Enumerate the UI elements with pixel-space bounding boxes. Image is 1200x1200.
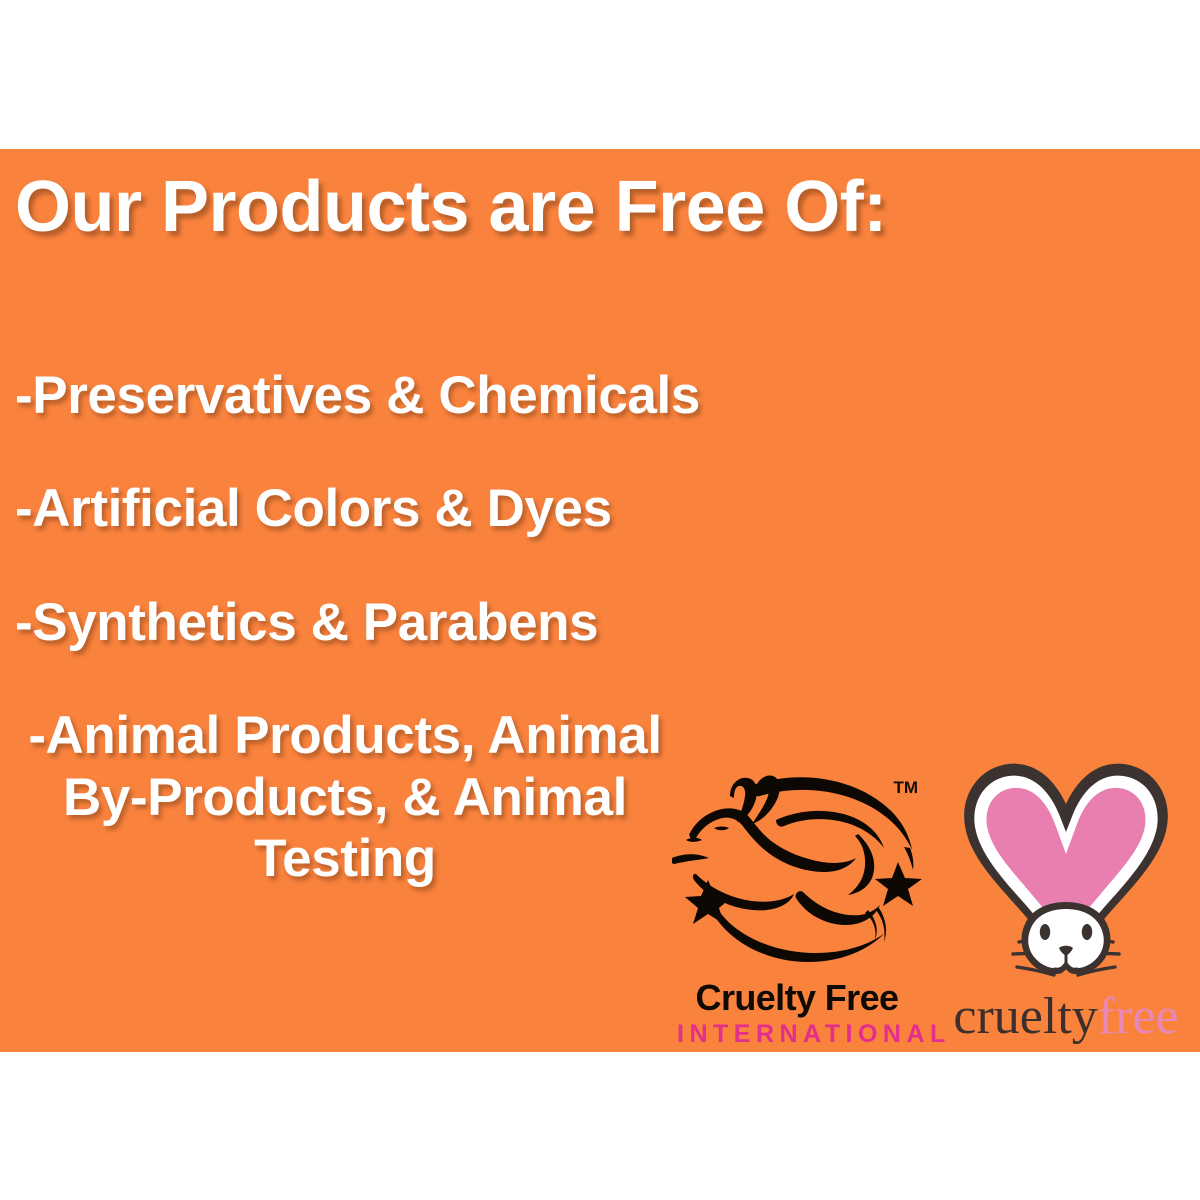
list-item-animal-products: -Animal Products, Animal By-Products, & … (15, 705, 675, 889)
cruelty-free-international-logo: TM Cruelty Free INTERNATIONAL (672, 762, 922, 1052)
slide-canvas: Our Products are Free Of: -Preservatives… (0, 0, 1200, 1200)
list-item: -Artificial Colors & Dyes (15, 478, 695, 539)
list-item: -Preservatives & Chemicals (15, 365, 695, 426)
heart-eared-bunny-icon (935, 752, 1197, 992)
logo-word-cruelty: cruelty (953, 988, 1097, 1045)
free-of-list: -Preservatives & Chemicals -Artificial C… (15, 365, 695, 890)
leaping-bunny-icon (672, 762, 922, 977)
list-item-line-3: Testing (15, 828, 675, 889)
peta-cruelty-free-logo: crueltyfree (935, 752, 1197, 1052)
trademark-mark: TM (893, 779, 918, 796)
page-title: Our Products are Free Of: (15, 170, 1015, 246)
cruelty-free-international-wordmark: Cruelty Free INTERNATIONAL (672, 980, 922, 1049)
logo-subtitle: INTERNATIONAL (677, 1019, 922, 1049)
logo-word-free: free (1098, 988, 1179, 1045)
logo-name: Cruelty Free (672, 980, 922, 1016)
list-item-line-2: By-Products, & Animal (15, 767, 675, 828)
list-item-line-1: -Animal Products, Animal (15, 705, 675, 766)
peta-cruelty-free-wordmark: crueltyfree (935, 990, 1197, 1045)
list-item: -Synthetics & Parabens (15, 592, 695, 653)
